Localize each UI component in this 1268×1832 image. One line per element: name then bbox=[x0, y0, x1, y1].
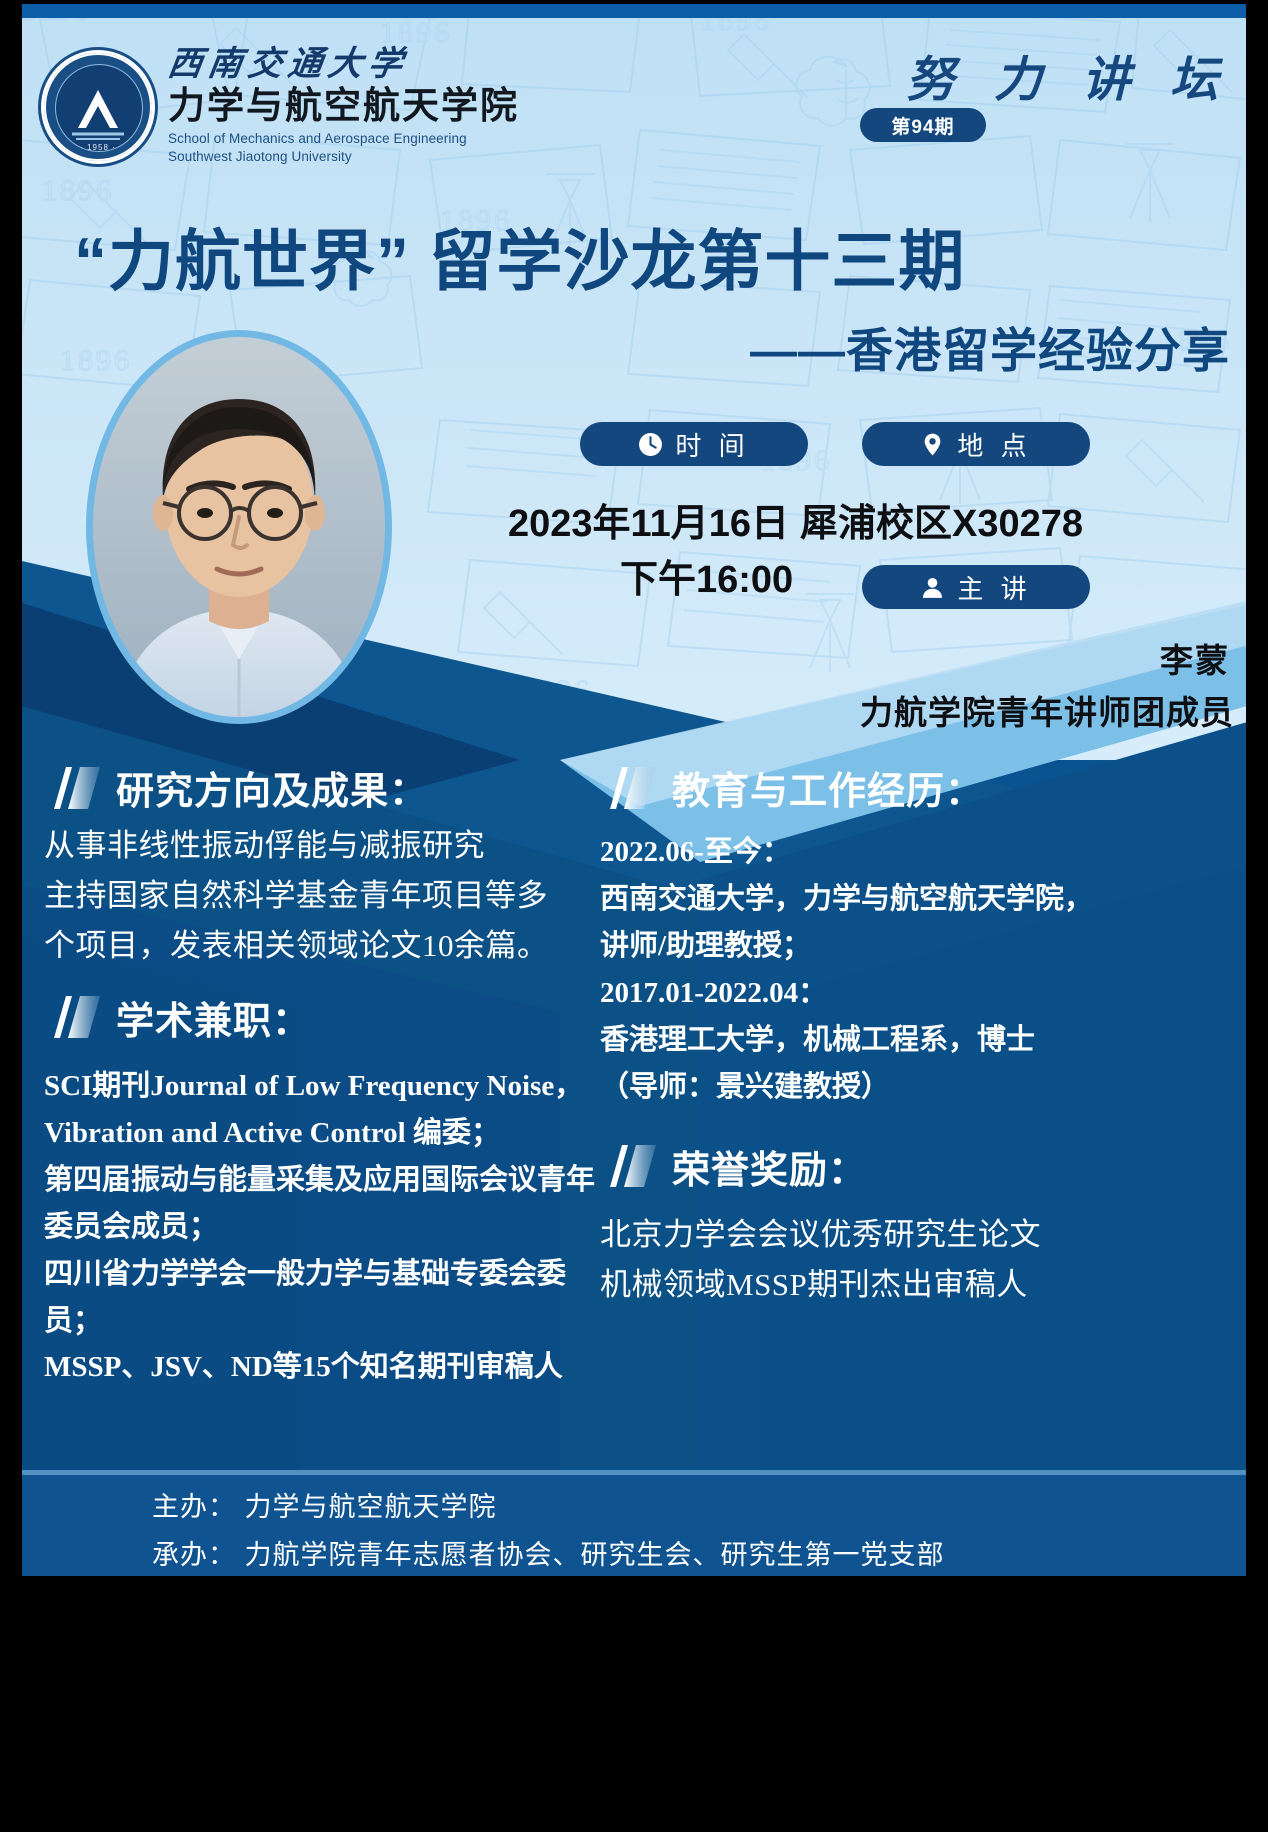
education-line-5: 香港理工大学，机械工程系，博士 bbox=[600, 1017, 1230, 1064]
place-label-text: 地 点 bbox=[957, 426, 1031, 463]
research-line-2: 主持国家自然科学基金青年项目等多 bbox=[44, 871, 604, 921]
academic-line-1: SCI期刊Journal of Low Frequency Noise， bbox=[44, 1063, 604, 1110]
double-slash-icon bbox=[44, 994, 102, 1040]
university-name-cn: 西南交通大学 bbox=[166, 48, 522, 82]
svg-text:1896: 1896 bbox=[120, 734, 192, 760]
footer-divider bbox=[0, 1470, 1268, 1475]
school-name-cn: 力学与航空航天学院 bbox=[168, 87, 519, 124]
academic-line-5: 四川省力学学会一般力学与基础专委会委员； bbox=[44, 1251, 604, 1345]
double-slash-icon bbox=[600, 765, 658, 811]
education-body: 2022.06-至今： 西南交通大学，力学与航空航天学院， 讲师/助理教授； 2… bbox=[600, 829, 1230, 1111]
section-title-academic: 学术兼职： bbox=[116, 990, 311, 1045]
academic-line-3: 第四届振动与能量采集及应用国际会议青年 bbox=[44, 1157, 604, 1204]
section-title-education: 教育与工作经历： bbox=[672, 760, 984, 815]
page-subtitle: ——香港留学经验分享 bbox=[750, 312, 1230, 381]
university-seal-icon: · 1958 · bbox=[44, 53, 152, 161]
svg-text:1896: 1896 bbox=[380, 16, 452, 49]
academic-line-6: MSSP、JSV、ND等15个知名期刊审稿人 bbox=[44, 1344, 604, 1391]
event-time: 下午16:00 bbox=[620, 548, 793, 603]
university-logo-lockup: · 1958 · 西南交通大学 力学与航空航天学院 School of Mech… bbox=[44, 48, 519, 166]
right-column: 教育与工作经历： 2022.06-至今： 西南交通大学，力学与航空航天学院， 讲… bbox=[600, 760, 1230, 1310]
school-name-en-line2: Southwest Jiaotong University bbox=[168, 148, 519, 166]
top-black-margin bbox=[0, 0, 1268, 4]
section-header-honors: 荣誉奖励： bbox=[600, 1139, 1230, 1194]
person-icon bbox=[920, 575, 945, 600]
bottom-black-margin bbox=[0, 1576, 1268, 1832]
section-header-research: 研究方向及成果： bbox=[44, 760, 604, 815]
honors-line-2: 机械领域MSSP期刊杰出审稿人 bbox=[600, 1260, 1230, 1310]
clock-icon bbox=[638, 432, 663, 457]
section-header-education: 教育与工作经历： bbox=[600, 760, 1230, 815]
left-column: 研究方向及成果： 从事非线性振动俘能与减振研究 主持国家自然科学基金青年项目等多… bbox=[44, 760, 604, 1391]
research-line-3: 个项目，发表相关领域论文10余篇。 bbox=[44, 921, 604, 971]
page-title: “力航世界” 留学沙龙第十三期 bbox=[74, 208, 1034, 304]
footer-organizer: 主办： 力学与航空航天学院 bbox=[152, 1485, 497, 1524]
seal-year: · 1958 · bbox=[44, 143, 152, 152]
academic-line-4: 委员会成员； bbox=[44, 1204, 604, 1251]
double-slash-icon bbox=[44, 765, 102, 811]
education-line-4: 2017.01-2022.04： bbox=[600, 970, 1230, 1017]
issue-badge: 第94期 bbox=[860, 108, 986, 142]
location-pin-icon bbox=[920, 432, 945, 457]
education-line-3: 讲师/助理教授； bbox=[600, 923, 1230, 970]
footer-co-organizer: 承办： 力航学院青年志愿者协会、研究生会、研究生第一党支部 bbox=[152, 1533, 945, 1572]
poster-root: 1896 1896 1896 1896 1896 1896 1896 1896 … bbox=[0, 0, 1268, 1832]
time-label-pill: 时 间 bbox=[580, 422, 808, 466]
place-label-pill: 地 点 bbox=[862, 422, 1090, 466]
honors-line-1: 北京力学会会议优秀研究生论文 bbox=[600, 1210, 1230, 1260]
time-label-text: 时 间 bbox=[675, 426, 749, 463]
academic-line-2: Vibration and Active Control 编委； bbox=[44, 1110, 604, 1157]
section-header-academic: 学术兼职： bbox=[44, 990, 604, 1045]
event-place: 犀浦校区X30278 bbox=[800, 492, 1083, 547]
forum-name: 努 力 讲 坛 bbox=[906, 40, 1232, 110]
education-line-6: （导师：景兴建教授） bbox=[600, 1064, 1230, 1111]
honors-body: 北京力学会会议优秀研究生论文 机械领域MSSP期刊杰出审稿人 bbox=[600, 1210, 1230, 1310]
event-date: 2023年11月16日 bbox=[508, 492, 789, 547]
seal-mountain-glyph bbox=[62, 88, 134, 140]
education-line-2: 西南交通大学，力学与航空航天学院， bbox=[600, 876, 1230, 923]
content-area: 研究方向及成果： 从事非线性振动俘能与减振研究 主持国家自然科学基金青年项目等多… bbox=[0, 760, 1268, 1450]
speaker-portrait-photo bbox=[86, 330, 392, 724]
speaker-label-pill: 主 讲 bbox=[862, 565, 1090, 609]
academic-body: SCI期刊Journal of Low Frequency Noise， Vib… bbox=[44, 1063, 604, 1392]
school-name-en-line1: School of Mechanics and Aerospace Engine… bbox=[168, 130, 519, 148]
speaker-label-text: 主 讲 bbox=[957, 569, 1031, 606]
section-title-honors: 荣誉奖励： bbox=[672, 1139, 867, 1194]
research-body: 从事非线性振动俘能与减振研究 主持国家自然科学基金青年项目等多 个项目，发表相关… bbox=[44, 821, 604, 972]
research-line-1: 从事非线性振动俘能与减振研究 bbox=[44, 821, 604, 871]
double-slash-icon bbox=[600, 1143, 658, 1189]
education-line-1: 2022.06-至今： bbox=[600, 829, 1230, 876]
svg-text:1896: 1896 bbox=[42, 174, 114, 207]
section-title-research: 研究方向及成果： bbox=[116, 760, 428, 815]
